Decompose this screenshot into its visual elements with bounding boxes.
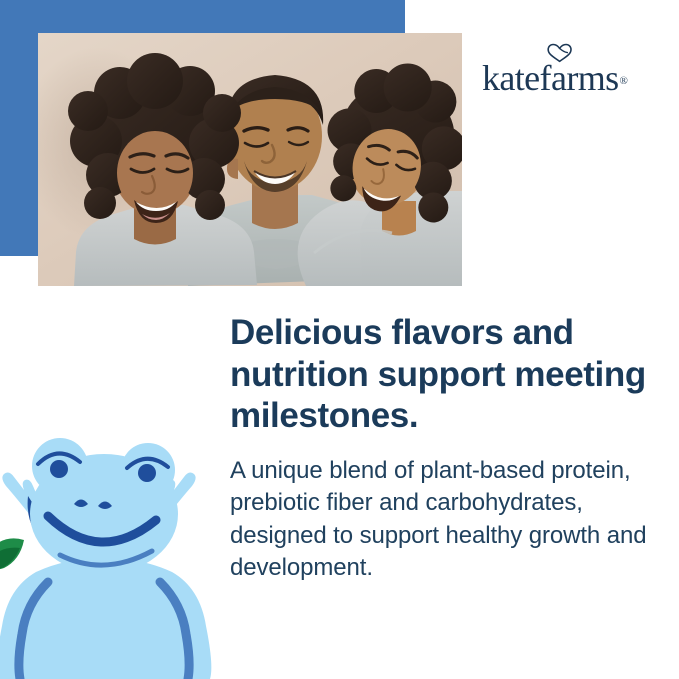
brand-logo[interactable]: katefarms® — [482, 48, 657, 96]
registered-mark: ® — [620, 75, 628, 87]
frog-leaf — [0, 538, 24, 569]
brand-logo-wrap: katefarms® — [482, 60, 628, 96]
product-info-card: katefarms® Delicious flavors and nutriti… — [0, 0, 679, 679]
heart-leaf-icon — [546, 43, 574, 63]
frog-mascot — [0, 432, 220, 679]
headline: Delicious flavors and nutrition support … — [230, 312, 650, 437]
frog-mascot-svg — [0, 432, 220, 679]
family-photo — [38, 33, 462, 286]
heart-leaf-svg — [546, 43, 574, 63]
body-copy: A unique blend of plant-based protein, p… — [230, 455, 650, 585]
family-photo-illustration — [38, 33, 462, 286]
brand-logo-text: katefarms — [482, 58, 619, 98]
